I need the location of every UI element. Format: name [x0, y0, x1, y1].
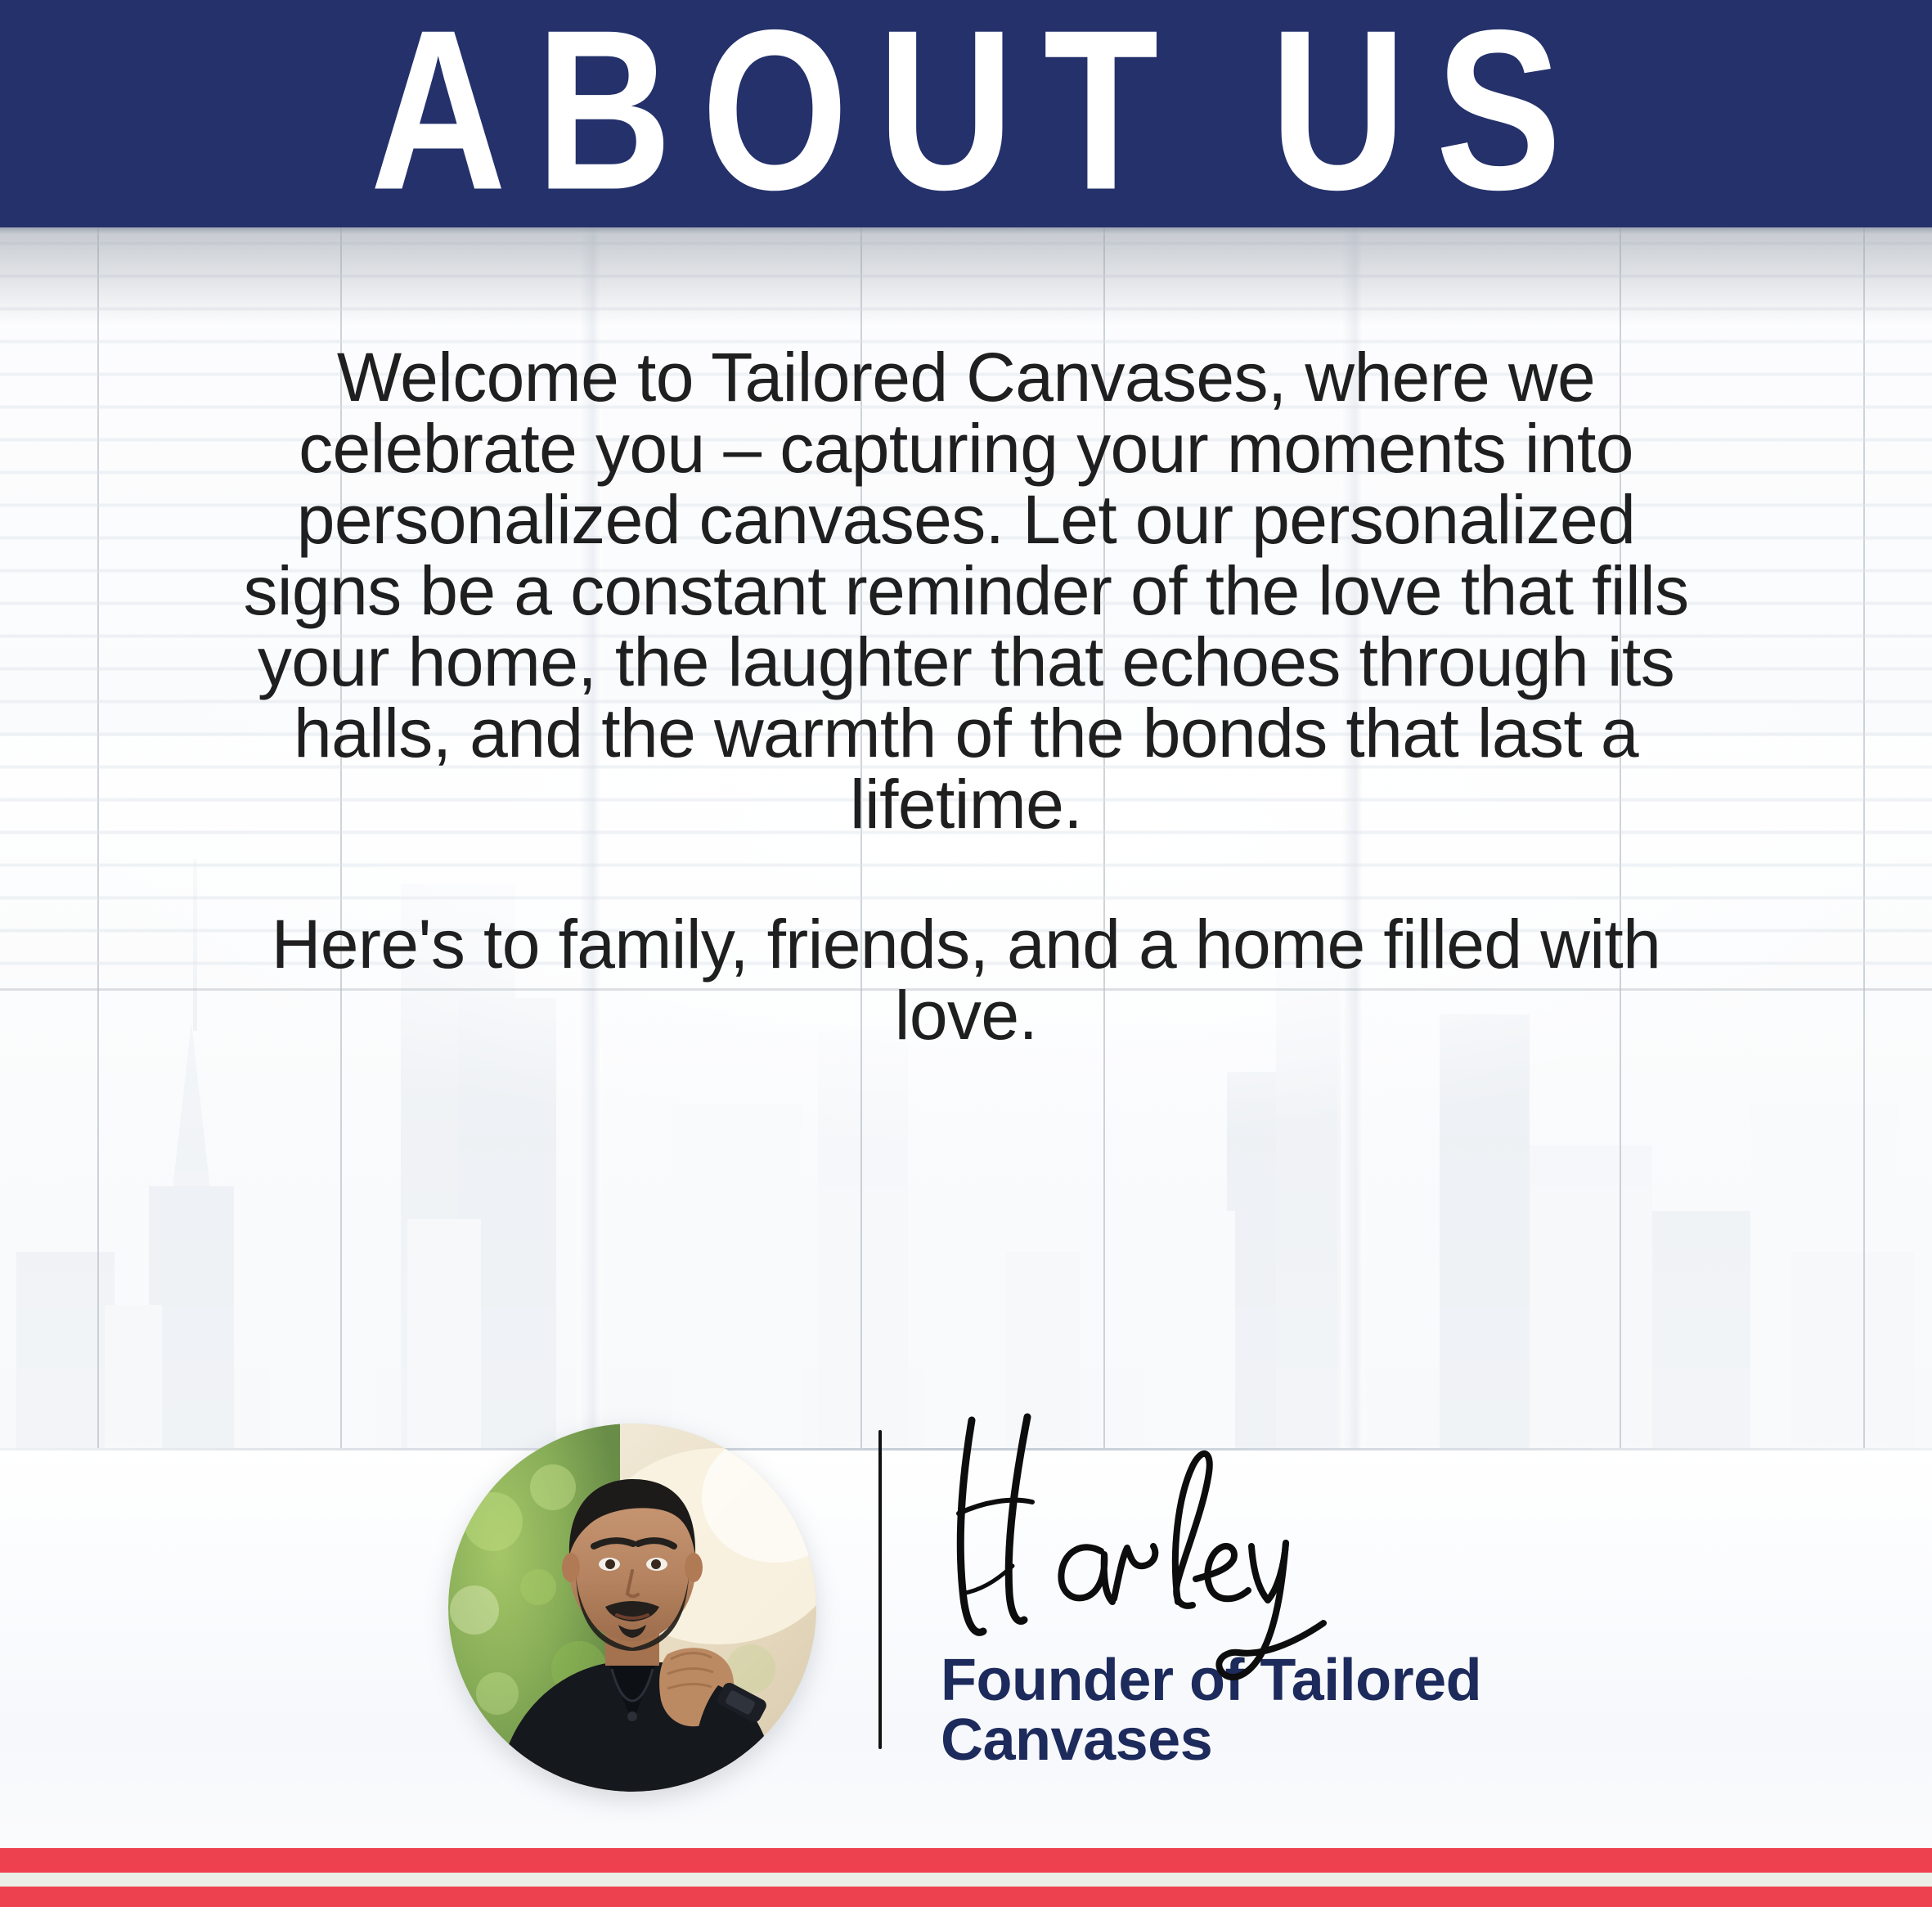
footer-bar-gap	[0, 1873, 1932, 1887]
paragraph-spacer	[230, 840, 1702, 909]
footer-bar-top	[0, 1848, 1932, 1873]
about-paragraph-1: Welcome to Tailored Canvases, where we c…	[230, 342, 1702, 840]
page-title: ABOUT US	[341, 0, 1592, 232]
floor-edge-line	[0, 1448, 1932, 1450]
about-paragraph-2: Here's to family, friends, and a home fi…	[230, 909, 1702, 1051]
founder-role: Founder of Tailored Canvases	[941, 1651, 1677, 1771]
signature-divider	[878, 1430, 882, 1749]
blinds-shadow	[0, 227, 1932, 326]
header-banner: ABOUT US	[0, 0, 1932, 227]
about-body-copy: Welcome to Tailored Canvases, where we c…	[230, 342, 1702, 1050]
founder-role-line-2: Canvases	[941, 1711, 1677, 1770]
footer-bar-bottom	[0, 1887, 1932, 1907]
avatar	[448, 1424, 816, 1792]
header-underline	[0, 227, 1932, 235]
founder-role-line-1: Founder of Tailored	[941, 1651, 1677, 1711]
about-us-poster: ABOUT US Welcome to Tailored Canvases, w…	[0, 0, 1932, 1907]
